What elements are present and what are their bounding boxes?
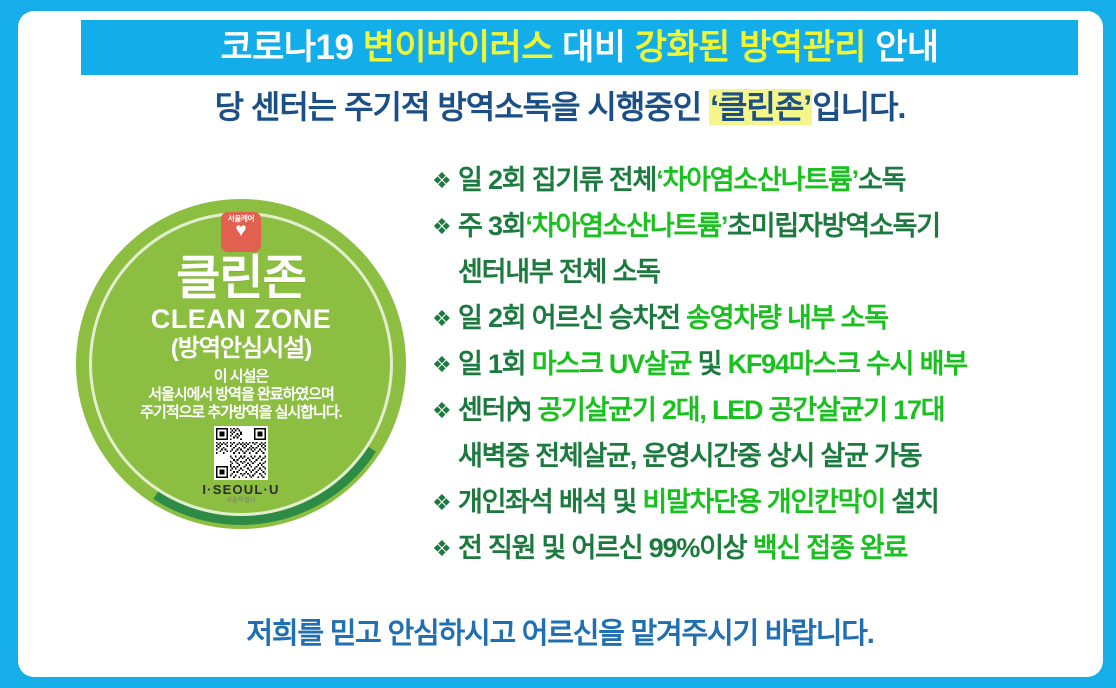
badge-description-line: 서울시에서 방역을 완료하였으며 [140,386,342,404]
list-item-segment: 송영차량 내부 소독 [686,303,888,333]
poster-title-bar: 코로나19 변이바이러스 대비 강화된 방역관리 안내 [81,20,1078,75]
badge-description: 이 시설은 서울시에서 방역을 완료하였으며 주기적으로 추가방역을 실시합니다… [140,368,342,423]
title-segment: 강화된 방역관리 [635,28,866,67]
subtitle-highlight: ‘클린존’ [709,89,812,125]
i-seoul-u-logo: I·SEOUL·U [202,483,279,496]
diamond-bullet-icon: ❖ [432,205,458,248]
badge-title-kr: 클린존 [176,253,305,305]
list-item-segment: 백신 접종 완료 [753,533,907,563]
list-item-text: 전 직원 및 어르신 99%이상 백신 접종 완료 [458,527,1092,570]
list-item-segment: 새벽중 전체살균, 운영시간중 상시 살균 가동 [458,441,921,471]
footer-message: 저희를 믿고 안심하시고 어르신을 맡겨주시기 바랍니다. [18,617,1102,652]
list-item-segment: 일 2회 집기류 전체 [458,165,656,195]
list-item-segment: 및 [691,349,727,379]
poster-frame: 코로나19 변이바이러스 대비 강화된 방역관리 안내 당 센터는 주기적 방역… [0,0,1116,688]
badge-title-en: CLEAN ZONE [151,305,332,333]
list-item: ❖주 3회‘차아염소산나트륨’초미립자방역소독기 [432,205,1092,248]
list-item-text: 주 3회‘차아염소산나트륨’초미립자방역소독기 [458,205,1092,248]
diamond-bullet-icon: ❖ [432,159,458,202]
subtitle: 당 센터는 주기적 방역소독을 시행중인 ‘클린존’입니다. [18,87,1102,127]
list-item-segment: ‘차아염소산나트륨’ [656,165,858,195]
list-item-segment: 일 2회 어르신 승차전 [458,303,686,333]
list-item-text: 센터內 공기살균기 2대, LED 공간살균기 17대 [458,389,1092,432]
list-item-segment: KF94마스크 수시 배부 [728,349,967,379]
subtitle-before: 당 센터는 주기적 방역소독을 시행중인 [215,89,702,125]
diamond-bullet-icon: ❖ [432,297,458,340]
list-item-segment: 센터內 [458,395,537,425]
list-item: ❖일 2회 집기류 전체‘차아염소산나트륨’소독 [432,159,1092,202]
title-segment: 코로나19 [220,28,362,67]
subtitle-after: 입니다. [812,89,905,125]
list-item-segment: 비말차단용 개인칸막이 [642,487,885,517]
list-item: ❖센터內 공기살균기 2대, LED 공간살균기 17대 [432,389,1092,432]
seoul-care-logo: 서울케어 ♥ [221,212,261,252]
i-seoul-u-subtext: 서울특별시 [226,498,256,504]
list-item-text: 새벽중 전체살균, 운영시간중 상시 살균 가동 [458,435,1092,478]
title-segment: 변이바이러스 [363,28,553,67]
list-item-segment: 초미립자방역소독기 [727,211,940,241]
list-item: ❖일 2회 어르신 승차전 송영차량 내부 소독 [432,297,1092,340]
list-item-text: 개인좌석 배석 및 비말차단용 개인칸막이 설치 [458,481,1092,524]
list-item-continuation: ❖센터내부 전체 소독 [432,251,1092,294]
qr-code-icon [214,426,268,480]
title-segment: 대비 [553,28,635,67]
diamond-bullet-icon: ❖ [432,343,458,386]
heart-icon: ♥ [235,224,246,238]
list-item-text: 일 2회 어르신 승차전 송영차량 내부 소독 [458,297,1092,340]
clean-zone-badge: 서울케어 ♥ 클린존 CLEAN ZONE (방역안심시설) 이 시설은 서울시… [76,199,406,529]
list-item: ❖개인좌석 배석 및 비말차단용 개인칸막이 설치 [432,481,1092,524]
list-item-continuation: ❖새벽중 전체살균, 운영시간중 상시 살균 가동 [432,435,1092,478]
prevention-measures-list: ❖일 2회 집기류 전체‘차아염소산나트륨’소독❖주 3회‘차아염소산나트륨’초… [432,159,1092,573]
list-item-segment: 설치 [885,487,939,517]
list-item-segment: 공기살균기 2대, LED 공간살균기 17대 [537,395,944,425]
list-item-segment: 마스크 UV살균 [532,349,692,379]
list-item-segment: 개인좌석 배석 및 [458,487,642,517]
list-item-segment: 일 1회 [458,349,532,379]
badge-description-line: 주기적으로 추가방역을 실시합니다. [140,404,342,422]
list-item-segment: ‘차아염소산나트륨’ [525,211,727,241]
list-item-segment: 소독 [858,165,905,195]
list-item-segment: 주 3회 [458,211,525,241]
list-item-text: 일 1회 마스크 UV살균 및 KF94마스크 수시 배부 [458,343,1092,386]
badge-subtitle-kr: (방역안심시설) [171,333,311,365]
list-item: ❖전 직원 및 어르신 99%이상 백신 접종 완료 [432,527,1092,570]
page-title: 코로나19 변이바이러스 대비 강화된 방역관리 안내 [220,30,938,65]
list-item-segment: 전 직원 및 어르신 99%이상 [458,533,753,563]
poster-sheet: 코로나19 변이바이러스 대비 강화된 방역관리 안내 당 센터는 주기적 방역… [18,11,1103,677]
list-item-segment: 센터내부 전체 소독 [458,257,660,287]
title-segment: 안내 [866,28,939,67]
diamond-bullet-icon: ❖ [432,481,458,524]
list-item-text: 일 2회 집기류 전체‘차아염소산나트륨’소독 [458,159,1092,202]
list-item-text: 센터내부 전체 소독 [458,251,1092,294]
badge-description-line: 이 시설은 [140,368,342,386]
diamond-bullet-icon: ❖ [432,389,458,432]
i-seoul-u-text: I·SEOUL·U [202,482,279,497]
diamond-bullet-icon: ❖ [432,527,458,570]
list-item: ❖일 1회 마스크 UV살균 및 KF94마스크 수시 배부 [432,343,1092,386]
